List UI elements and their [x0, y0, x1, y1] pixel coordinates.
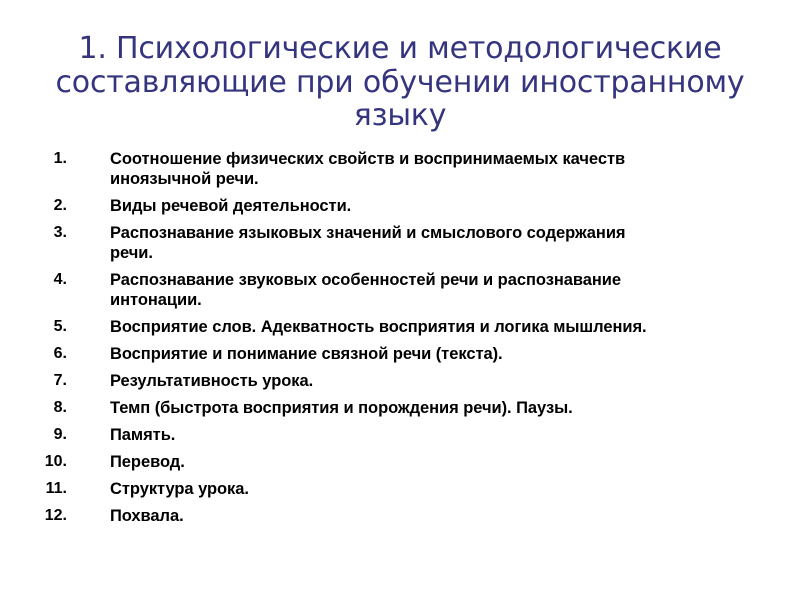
- list-item-number: 11.: [0, 479, 70, 499]
- list-item-text: Распознавание языковых значений и смысло…: [110, 223, 655, 263]
- list-item-text: Результативность урока.: [110, 371, 655, 391]
- list-item-text: Виды речевой деятельности.: [110, 196, 655, 216]
- list-item-text: Похвала.: [110, 506, 655, 526]
- list-item-number: 6.: [0, 344, 70, 364]
- list-item-text: Распознавание звуковых особенностей речи…: [110, 270, 655, 310]
- list-item-number: 3.: [0, 223, 70, 243]
- list-item: 3.Распознавание языковых значений и смыс…: [0, 223, 800, 263]
- list-item: 11.Структура урока.: [0, 479, 800, 499]
- list-item-number: 7.: [0, 371, 70, 391]
- list-item-number: 4.: [0, 270, 70, 290]
- list-item: 4.Распознавание звуковых особенностей ре…: [0, 270, 800, 310]
- list-item-text: Память.: [110, 425, 655, 445]
- list-item-text: Восприятие и понимание связной речи (тек…: [110, 344, 655, 364]
- list-item: 1.Соотношение физических свойств и воспр…: [0, 149, 800, 189]
- list-item: 5.Восприятие слов. Адекватность восприят…: [0, 317, 800, 337]
- list-item: 12.Похвала.: [0, 506, 800, 526]
- list-item-text: Перевод.: [110, 452, 655, 472]
- list-item: 6.Восприятие и понимание связной речи (т…: [0, 344, 800, 364]
- list-item-text: Темп (быстрота восприятия и порождения р…: [110, 398, 655, 418]
- list-item: 7.Результативность урока.: [0, 371, 800, 391]
- list-item-text: Соотношение физических свойств и восприн…: [110, 149, 655, 189]
- list-item-number: 2.: [0, 196, 70, 216]
- list-item-number: 12.: [0, 506, 70, 526]
- list-item-text: Восприятие слов. Адекватность восприятия…: [110, 317, 655, 337]
- list-item-number: 10.: [0, 452, 70, 472]
- list-item: 8.Темп (быстрота восприятия и порождения…: [0, 398, 800, 418]
- page-title: 1. Психологические и методологические со…: [40, 32, 760, 133]
- list-item-text: Структура урока.: [110, 479, 655, 499]
- list-item-number: 8.: [0, 398, 70, 418]
- list-item: 10.Перевод.: [0, 452, 800, 472]
- list-item: 2.Виды речевой деятельности.: [0, 196, 800, 216]
- list-item-number: 5.: [0, 317, 70, 337]
- list-item: 9.Память.: [0, 425, 800, 445]
- list-item-number: 1.: [0, 149, 70, 169]
- list-item-number: 9.: [0, 425, 70, 445]
- presentation-slide: 1. Психологические и методологические со…: [0, 0, 800, 600]
- numbered-list: 1.Соотношение физических свойств и воспр…: [0, 149, 800, 533]
